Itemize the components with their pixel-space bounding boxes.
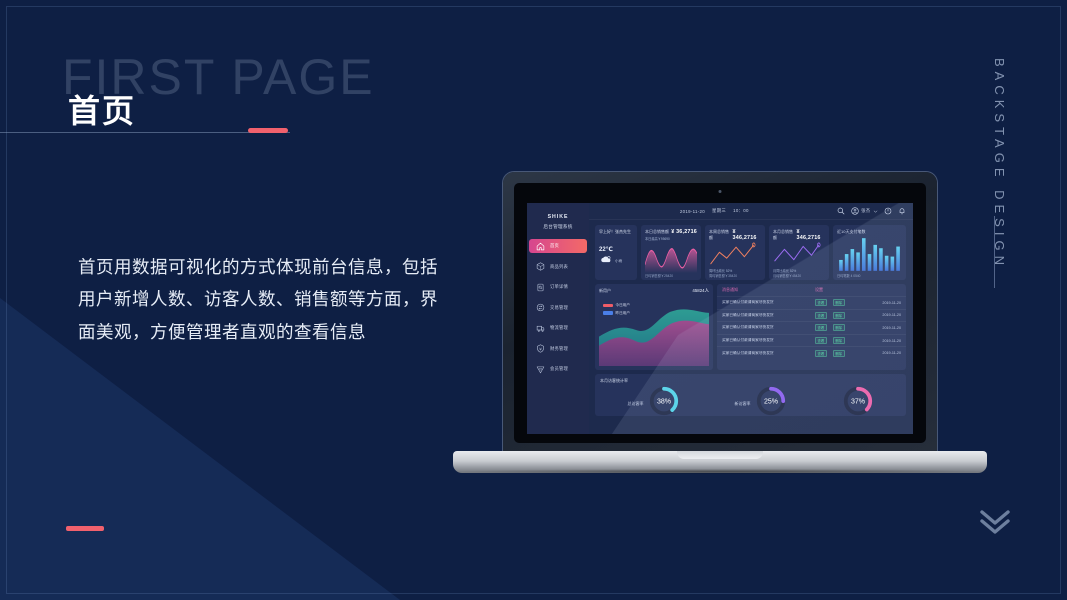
laptop-lid: SHIKE 后台管理系统 首页 商品列表 [503,172,937,455]
new-users-card: 新用户 45824人 今日用户 [595,284,713,370]
sidebar-item-orders[interactable]: 订单详情 [527,280,589,294]
sidebar-item-members[interactable]: 会员管理 [527,362,589,376]
stat-value: ¥ 346,2716 [797,229,825,241]
action-badge[interactable]: 查看 [815,299,827,306]
table-cell-date: 2019-11-20 [867,313,901,317]
svg-text:37%: 37% [850,398,865,405]
laptop-mockup: SHIKE 后台管理系统 首页 商品列表 [453,172,987,482]
sparkline-area-chart [645,242,697,273]
bar-chart [837,236,902,273]
sidebar-item-transactions[interactable]: 交易管理 [527,301,589,315]
vertical-caption-line [994,216,995,288]
heart-badge-icon [536,365,545,374]
bottom-accent-bar [66,526,104,531]
action-badge[interactable]: 删除 [833,337,845,344]
table-row[interactable]: 买家已确认付款请商家尽快发货查看删除2019-11-20 [717,334,906,347]
shield-icon [536,344,545,353]
power-icon[interactable] [884,207,892,215]
topbar-time: 10：00 [733,208,749,214]
dashboard-topbar: 2019-11-20 星期三 10：00 张杰 [589,203,913,220]
donut-chart: 38% [648,385,680,416]
sidebar-menu: 首页 商品列表 订单详情 [527,239,589,376]
action-badge[interactable]: 删除 [833,324,845,331]
brand-subtitle: 后台管理系统 [527,224,589,230]
table-cell-actions: 查看删除 [815,324,867,331]
stat-value: ¥ 346,2716 [733,229,761,241]
action-badge[interactable]: 查看 [815,337,827,344]
chevron-down-icon [873,209,878,214]
svg-text:25%: 25% [763,398,778,405]
bar-chart-footer: 日均笔数 4 0540 [837,273,902,278]
users-and-table-row: 新用户 45824人 今日用户 [595,284,906,370]
stat-label: 本周总销售额 [709,229,733,241]
donut-chart: 25% [755,385,787,416]
box-icon [536,262,545,271]
table-row[interactable]: 买家已确认付款请商家尽快发货查看删除2019-11-20 [717,309,906,322]
action-badge[interactable]: 查看 [815,312,827,319]
dashboard-screen: SHIKE 后台管理系统 首页 商品列表 [527,203,913,434]
laptop-shadow [455,469,985,474]
sidebar-item-label: 交易管理 [550,305,568,311]
table-body: 买家已确认付款请商家尽快发货查看删除2019-11-20买家已确认付款请商家尽快… [717,296,906,359]
title-divider-accent [248,128,288,133]
donut-chart-unit: 总访客率38% [628,385,680,416]
topbar-weekday: 星期三 [712,208,726,214]
weather-condition: 小雨 [615,259,622,264]
stat-value: ¥ 36,2716 [671,229,697,235]
temperature-value: 22℃ [599,246,633,253]
visitor-rate-card: 本月访客统计率 总访客率38%新访客率25%37% [595,374,906,416]
donuts-row: 本月访客统计率 总访客率38%新访客率25%37% [595,374,906,416]
table-cell-actions: 查看删除 [815,299,867,306]
user-avatar-icon [851,207,859,215]
weather-card: 早上好！张杰先生 22℃ 小雨 [595,225,637,280]
action-badge[interactable]: 查看 [815,324,827,331]
table-row[interactable]: 买家已确认付款请商家尽快发货查看删除2019-11-20 [717,346,906,359]
table-cell-date: 2019-11-20 [867,301,901,305]
table-cell-message: 买家已确认付款请商家尽快发货 [722,300,815,305]
legend-swatch [603,304,613,307]
table-header-message: 消息通知 [722,287,815,293]
sidebar-item-products[interactable]: 商品列表 [527,260,589,274]
table-cell-date: 2019-11-20 [867,351,901,355]
slide-root: FIRST PAGE 首页 首页用数据可视化的方式体现前台信息，包括用户新增人数… [0,0,1067,600]
sidebar-item-label: 物流管理 [550,325,568,331]
table-cell-message: 买家已确认付款请商家尽快发货 [722,351,815,356]
webcam-icon [719,190,722,193]
page-title-block: FIRST PAGE 首页 [62,52,375,102]
users-chart-legend: 今日用户 昨日用户 [603,303,630,316]
stats-row: 早上好！张杰先生 22℃ 小雨 [595,225,906,280]
sidebar-item-finance[interactable]: 财务管理 [527,342,589,356]
document-search-icon [536,283,545,292]
legend-item-yesterday: 昨日用户 [603,311,630,316]
table-cell-date: 2019-11-20 [867,326,901,330]
sidebar-item-logistics[interactable]: 物流管理 [527,321,589,335]
donut-chart: 37% [842,385,874,416]
table-header: 消息通知 设置 [717,284,906,296]
table-header-settings: 设置 [815,287,867,293]
sidebar-item-home[interactable]: 首页 [529,239,587,253]
exchange-icon [536,303,545,312]
brand-name: SHIKE [527,214,589,220]
bar-chart-card: 近10天支付笔数 日均笔数 4 0540 [833,225,906,280]
stat-label: 本日总销售额 [645,229,669,235]
table-cell-actions: 查看删除 [815,350,867,357]
legend-swatch [603,311,613,314]
table-cell-date: 2019-11-20 [867,339,901,343]
topbar-username: 张杰 [861,208,870,214]
dashboard-sidebar: SHIKE 后台管理系统 首页 商品列表 [527,203,589,434]
table-row[interactable]: 买家已确认付款请商家尽快发货查看删除2019-11-20 [717,296,906,309]
stat-label: 本月总销售额 [773,229,797,241]
dashboard-main: 2019-11-20 星期三 10：00 张杰 [589,203,913,434]
title-divider-line [0,132,290,133]
donut-chart-unit: 新访客率25% [735,385,787,416]
donut-card-title: 本月访客统计率 [600,378,901,384]
body-paragraph: 首页用数据可视化的方式体现前台信息，包括用户新增人数、访客人数、销售额等方面，界… [78,252,450,349]
scroll-down-chevrons-icon[interactable] [978,505,1012,537]
stat-card-monthly-sales: 本月总销售额 ¥ 346,2716 [769,225,829,280]
laptop-bezel: SHIKE 后台管理系统 首页 商品列表 [514,183,926,443]
search-icon[interactable] [837,207,845,215]
dashboard-content: 早上好！张杰先生 22℃ 小雨 [589,220,913,434]
table-cell-message: 买家已确认付款请商家尽快发货 [722,313,815,318]
donut-label: 总访客率 [628,401,644,407]
cloud-rain-icon [599,255,612,265]
sparkline-line-chart [773,242,825,267]
action-badge[interactable]: 删除 [833,350,845,357]
stat-card-daily-sales: 本日总销售额 ¥ 36,2716 本日最高￥95690 [641,225,701,280]
action-badge[interactable]: 删除 [833,299,845,306]
sparkline-line-chart [709,242,761,267]
legend-item-today: 今日用户 [603,303,630,308]
donut-chart-unit: 37% [842,385,874,416]
truck-icon [536,324,545,333]
table-row[interactable]: 买家已确认付款请商家尽快发货查看删除2019-11-20 [717,321,906,334]
bell-icon[interactable] [898,207,906,215]
donut-chart-group: 总访客率38%新访客率25%37% [600,385,901,416]
page-title: 首页 [68,86,136,132]
sidebar-item-label: 财务管理 [550,346,568,352]
stat-footer: 日均销售额￥25420 [645,273,697,278]
action-badge[interactable]: 删除 [833,312,845,319]
table-cell-message: 买家已确认付款请商家尽快发货 [722,325,815,330]
users-card-count: 45824人 [692,288,709,294]
action-badge[interactable]: 查看 [815,350,827,357]
topbar-user[interactable]: 张杰 [851,207,878,215]
stat-footer: 月均销售额￥45420 [773,273,825,278]
users-card-title: 新用户 [599,288,611,294]
stat-card-weekly-sales: 本周总销售额 ¥ 346,2716 [705,225,765,280]
stat-sub: 本日最高￥95690 [645,236,697,241]
notifications-table: 消息通知 设置 买家已确认付款请商家尽快发货查看删除2019-11-20买家已确… [717,284,906,370]
home-icon [536,242,545,251]
table-cell-actions: 查看删除 [815,312,867,319]
sidebar-item-label: 商品列表 [550,264,568,270]
sidebar-item-label: 订单详情 [550,284,568,290]
stat-footer: 周均销售额￥35420 [709,273,761,278]
svg-text:38%: 38% [656,398,671,405]
topbar-date: 2019-11-20 [680,209,705,214]
sidebar-item-label: 会员管理 [550,366,568,372]
bar-chart-title: 近10天支付笔数 [837,229,902,235]
donut-label: 新访客率 [735,401,751,407]
table-cell-message: 买家已确认付款请商家尽快发货 [722,338,815,343]
sidebar-item-label: 首页 [550,243,559,249]
legend-label: 今日用户 [616,303,630,308]
legend-label: 昨日用户 [616,311,630,316]
table-cell-actions: 查看删除 [815,337,867,344]
greeting-text: 早上好！张杰先生 [599,229,633,235]
